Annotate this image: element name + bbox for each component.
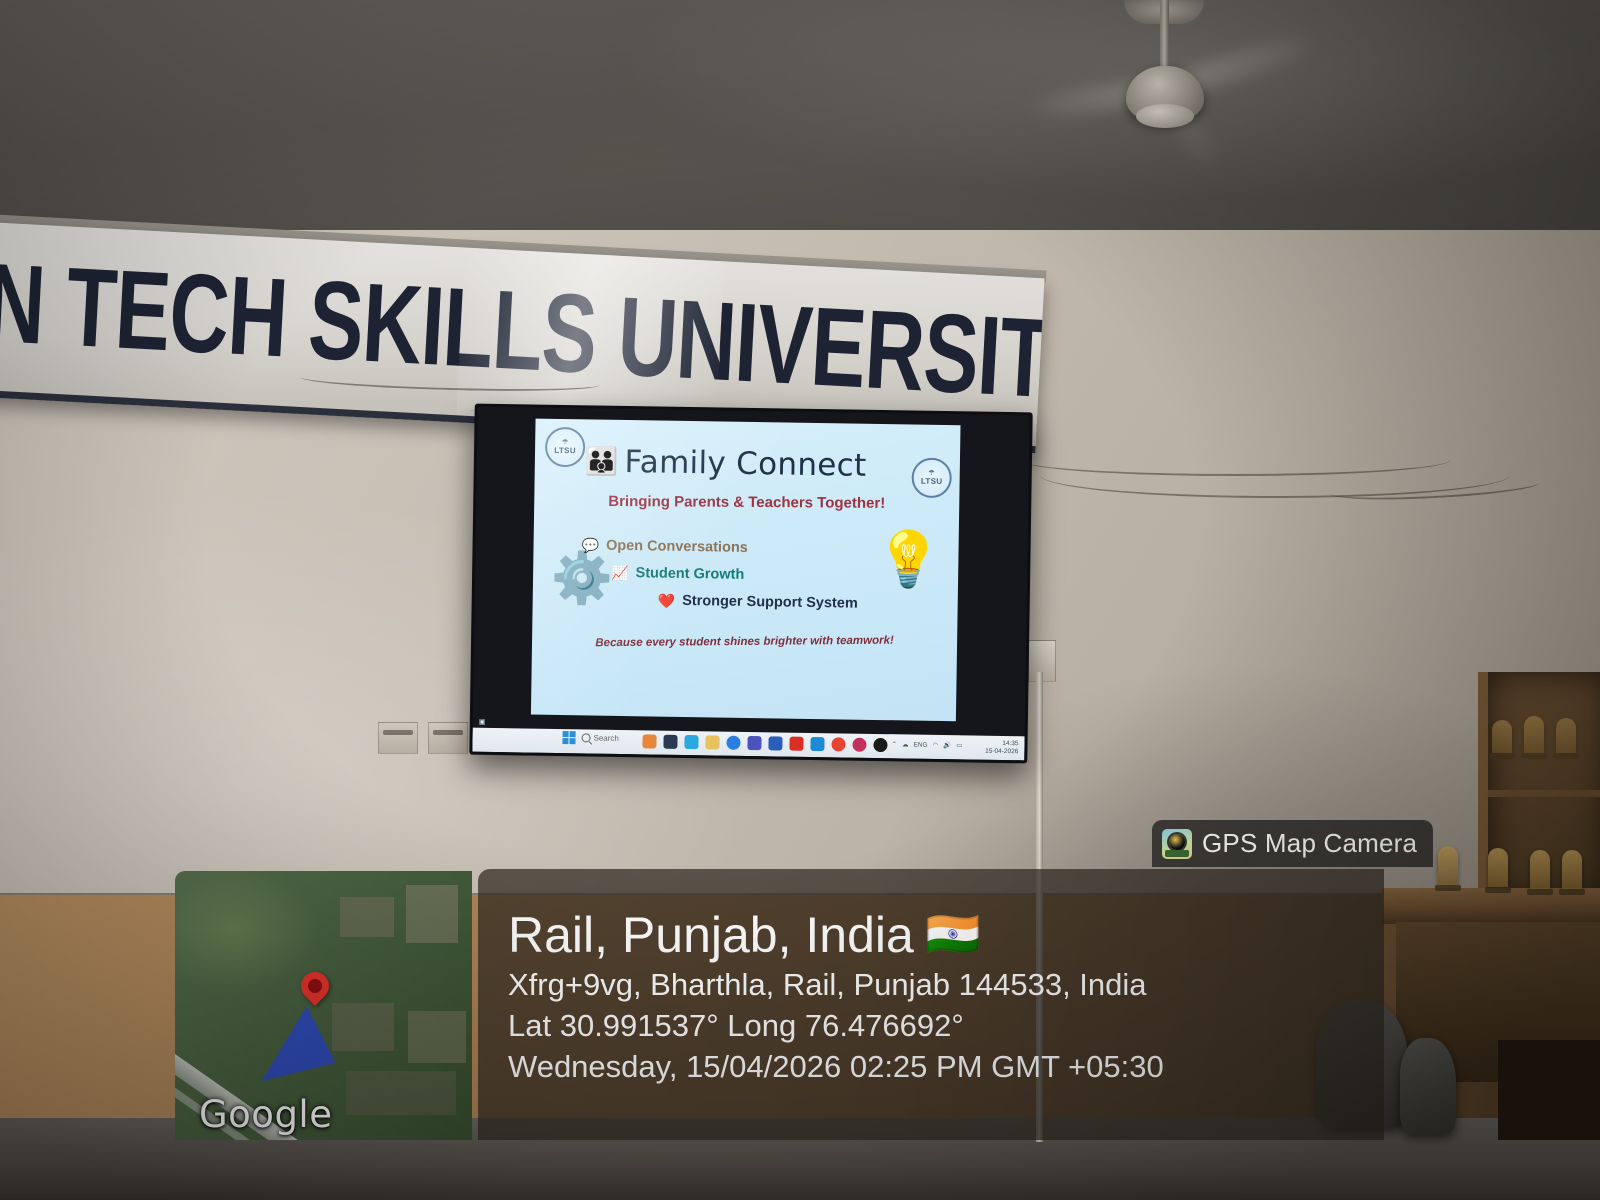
battery-icon[interactable]: ▭ — [956, 741, 962, 749]
photo-canvas: IN TECH SKILLS UNIVERSITY PUNJAB ☂ LTSU — [0, 0, 1600, 1200]
chrome-icon-2[interactable] — [831, 737, 845, 751]
photos-icon[interactable] — [852, 738, 866, 752]
windows-taskbar[interactable]: ▣ Search — [472, 728, 1024, 761]
onedrive-tray-icon[interactable]: ☁ — [902, 740, 909, 748]
gps-badge-label: GPS Map Camera — [1202, 828, 1417, 859]
gps-address-line: Xfrg+9vg, Bharthla, Rail, Punjab 144533,… — [508, 964, 1164, 1005]
ceiling-fan-cap — [1136, 104, 1194, 128]
helmet-gear-icon: ⚙️ — [551, 553, 614, 604]
slide-bullet-open-conversations: 💬 Open Conversations — [581, 537, 747, 556]
lightbulb-gear-icon: 💡 — [875, 532, 943, 587]
slide-title-row: 👪 Family Connect — [585, 443, 916, 484]
ltsu-logo-mark: ☂ — [928, 470, 935, 476]
slide-subtitle: Bringing Parents & Teachers Together! — [534, 492, 959, 512]
taskbar-clock[interactable]: 14:35 15-04-2026 — [985, 740, 1018, 757]
trophy — [1556, 718, 1576, 754]
gps-coordinates-line: Lat 30.991537° Long 76.476692° — [508, 1005, 1164, 1046]
desktop-icon[interactable]: ▣ — [479, 718, 486, 726]
trophy — [1524, 716, 1544, 754]
heart-icon: ❤️ — [658, 594, 676, 608]
trophy — [1488, 848, 1508, 888]
gps-map-camera-badge: GPS Map Camera — [1152, 820, 1433, 867]
family-emoji-icon: 👪 — [585, 448, 619, 476]
chrome-icon[interactable] — [726, 736, 740, 750]
speech-bubble-icon: 💬 — [581, 538, 599, 552]
system-tray[interactable]: ⌃ ☁ ENG ◠ 🔊 ▭ — [891, 740, 962, 749]
floor-box — [1498, 1040, 1600, 1140]
wall-mounted-tv: ☂ LTSU ☂ LTSU 👪 Family Connect Bringing … — [469, 404, 1032, 764]
india-flag-icon: 🇮🇳 — [926, 913, 981, 957]
google-watermark: Google — [199, 1093, 332, 1136]
wall-bracket-plate — [428, 722, 468, 754]
gps-place-text: Rail, Punjab, India — [508, 906, 914, 964]
tv-screen: ☂ LTSU ☂ LTSU 👪 Family Connect Bringing … — [472, 407, 1029, 761]
clock-date: 15-04-2026 — [985, 748, 1018, 757]
map-strip-icon — [1165, 850, 1189, 857]
slide-title: Family Connect — [624, 444, 867, 484]
gps-datetime-line: Wednesday, 15/04/2026 02:25 PM GMT +05:3… — [508, 1046, 1164, 1087]
taskbar-start-group[interactable]: Search — [562, 731, 619, 745]
firefox-icon[interactable] — [642, 734, 656, 748]
teams-icon[interactable] — [747, 736, 761, 750]
banner-glare — [456, 248, 725, 430]
gps-map-camera-app-icon — [1162, 829, 1192, 859]
presentation-slide: ☂ LTSU ☂ LTSU 👪 Family Connect Bringing … — [531, 419, 961, 722]
slide-bullet-stronger-support: ❤️ Stronger Support System — [658, 593, 858, 612]
map-buildings — [322, 871, 472, 1140]
volume-icon[interactable]: 🔊 — [943, 741, 951, 749]
ltsu-logo-right: ☂ LTSU — [911, 458, 952, 499]
opera-icon[interactable] — [873, 738, 887, 752]
onedrive-icon[interactable] — [810, 737, 824, 751]
gps-map-thumbnail: Google — [175, 871, 472, 1140]
ceiling — [0, 0, 1600, 250]
taskbar-search-box[interactable]: Search — [581, 733, 618, 743]
chart-increasing-icon: 📈 — [611, 566, 629, 580]
trophy — [1530, 850, 1550, 890]
file-explorer-icon[interactable] — [705, 735, 719, 749]
chevron-up-icon[interactable]: ⌃ — [891, 740, 897, 748]
ceiling-fan-rod — [1160, 0, 1169, 72]
windows-start-icon[interactable] — [562, 731, 575, 744]
slide-bullet-student-growth: 📈 Student Growth — [611, 565, 744, 583]
word-icon[interactable] — [768, 736, 782, 750]
niche-shelf — [1488, 790, 1600, 797]
trophy — [1438, 846, 1458, 886]
search-icon — [581, 733, 590, 742]
taskbar-app-icons[interactable] — [642, 734, 887, 752]
ltsu-logo-mark: ☂ — [562, 440, 569, 446]
trophy — [1562, 850, 1582, 890]
language-indicator[interactable]: ENG — [913, 741, 927, 748]
storage-bag — [1400, 1038, 1456, 1134]
ltsu-logo-text: LTSU — [554, 445, 576, 454]
search-placeholder: Search — [593, 734, 618, 743]
ltsu-logo-left: ☂ LTSU — [545, 427, 586, 468]
slide-bullet-label: Open Conversations — [606, 538, 748, 556]
edge-icon[interactable] — [684, 735, 698, 749]
terminal-icon[interactable] — [663, 735, 677, 749]
trophy — [1492, 720, 1512, 754]
slide-bullet-label: Student Growth — [635, 565, 744, 583]
gmail-icon[interactable] — [789, 737, 803, 751]
slide-bullet-label: Stronger Support System — [682, 593, 858, 612]
wifi-icon[interactable]: ◠ — [933, 741, 939, 749]
wall-bracket-plate — [378, 722, 418, 754]
slide-footer-text: Because every student shines brighter wi… — [532, 634, 957, 650]
gps-stamp-lines: Rail, Punjab, India 🇮🇳 Xfrg+9vg, Bharthl… — [508, 906, 1164, 1087]
camera-lens-icon — [1169, 834, 1185, 850]
gps-place-line: Rail, Punjab, India 🇮🇳 — [508, 906, 1164, 964]
gps-stamp-panel: Rail, Punjab, India 🇮🇳 Xfrg+9vg, Bharthl… — [478, 869, 1384, 1140]
ltsu-logo-text: LTSU — [921, 476, 943, 485]
